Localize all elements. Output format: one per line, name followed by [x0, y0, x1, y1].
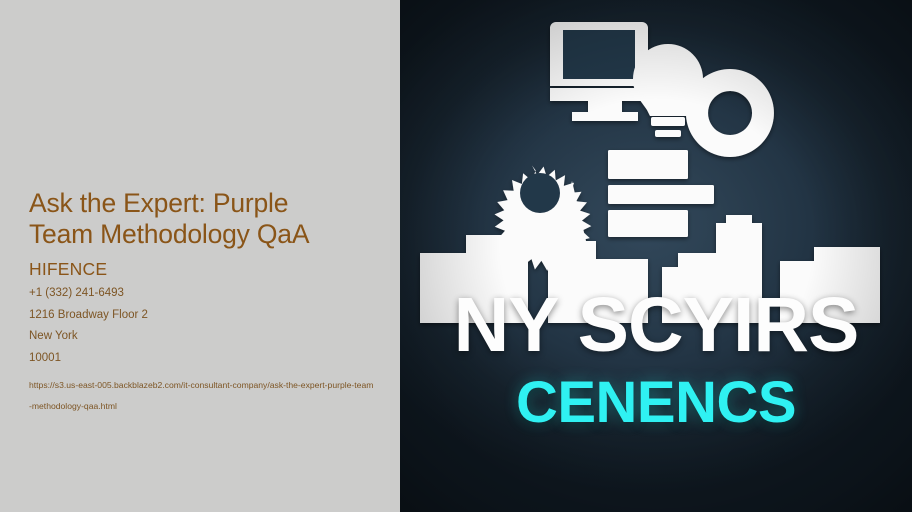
hero-illustration	[400, 0, 912, 512]
contact-street: 1216 Broadway Floor 2	[29, 305, 387, 327]
promo-card: Ask the Expert: Purple Team Methodology …	[0, 0, 912, 512]
hero-headline-primary: NY SCYIRS	[400, 285, 912, 365]
ring-icon	[686, 69, 774, 157]
contact-phone: +1 (332) 241-6493	[29, 283, 387, 305]
contact-zip: 10001	[29, 348, 387, 370]
contact-city: New York	[29, 326, 387, 348]
hero-image-panel: NY SCYIRS CENENCS	[400, 0, 912, 512]
article-info-content: Ask the Expert: Purple Team Methodology …	[29, 188, 387, 417]
server-stack-icon	[608, 150, 714, 237]
source-url-link[interactable]: https://s3.us-east-005.backblazeb2.com/i…	[29, 375, 374, 417]
hero-headline-secondary: CENENCS	[400, 372, 912, 434]
article-info-panel: Ask the Expert: Purple Team Methodology …	[0, 0, 400, 512]
page-title: Ask the Expert: Purple Team Methodology …	[29, 188, 387, 250]
brand-name: HIFENCE	[29, 259, 387, 280]
